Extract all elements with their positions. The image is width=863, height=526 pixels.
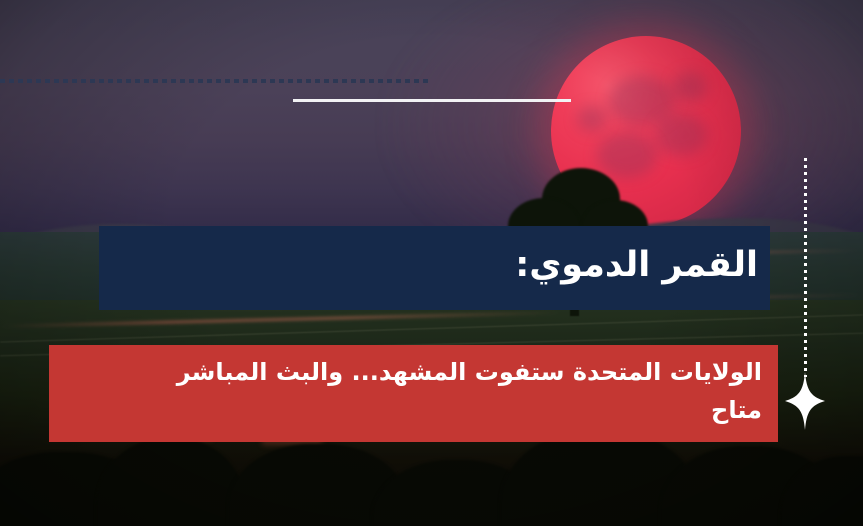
- title-banner: القمر الدموي:: [99, 226, 770, 310]
- four-point-sparkle-icon: [785, 372, 825, 430]
- subtitle-banner: الولايات المتحدة ستفوت المشهد... والبث ا…: [49, 345, 778, 442]
- moon-mare: [655, 114, 707, 156]
- moon-mare: [673, 72, 707, 102]
- moon-mare: [577, 106, 607, 132]
- solid-white-rule: [293, 99, 571, 102]
- dotted-vertical-rule: [804, 158, 807, 377]
- news-card: القمر الدموي: الولايات المتحدة ستفوت الم…: [0, 0, 863, 526]
- dotted-horizontal-rule: [0, 79, 428, 83]
- card-title: القمر الدموي:: [515, 246, 758, 285]
- card-subtitle: الولايات المتحدة ستفوت المشهد... والبث ا…: [142, 354, 762, 430]
